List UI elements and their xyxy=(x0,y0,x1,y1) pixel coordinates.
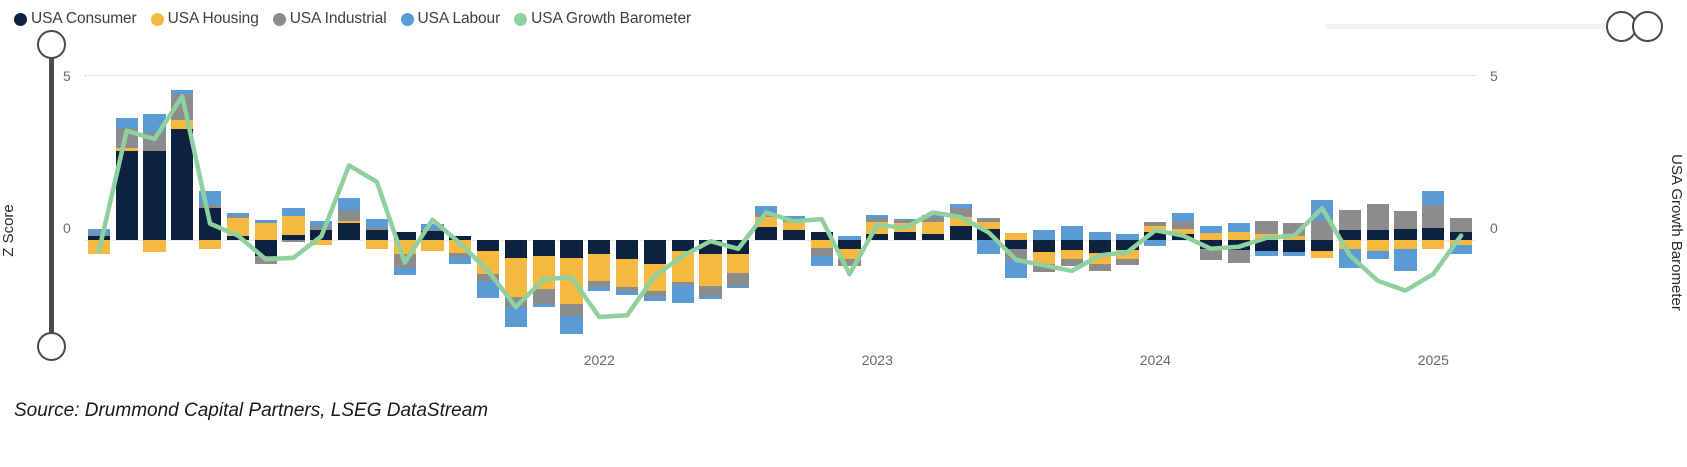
bar-segment xyxy=(394,240,416,255)
bar-segment xyxy=(282,216,304,234)
bar-segment xyxy=(282,240,304,243)
bar-segment xyxy=(922,234,944,240)
bar-group[interactable] xyxy=(1116,55,1138,345)
bar-segment xyxy=(1089,240,1111,254)
legend-item-label: USA Housing xyxy=(168,10,259,28)
bar-group[interactable] xyxy=(672,55,694,345)
bar-segment xyxy=(894,223,916,232)
legend-dot-icon xyxy=(151,13,164,26)
bar-segment xyxy=(1394,229,1416,240)
bar-segment xyxy=(171,129,193,239)
y-axis-tick-left-0: 0 xyxy=(63,220,71,236)
plot-area xyxy=(85,55,1475,345)
bar-group[interactable] xyxy=(1144,55,1166,345)
bar-segment xyxy=(199,191,221,205)
legend-dot-icon xyxy=(273,13,286,26)
bar-segment xyxy=(1255,234,1277,240)
bar-segment xyxy=(866,234,888,240)
bar-group[interactable] xyxy=(199,55,221,345)
bar-segment xyxy=(616,240,638,260)
bar-segment xyxy=(699,296,721,299)
bar-segment xyxy=(922,215,944,218)
y-axis-tick-right-0: 0 xyxy=(1490,220,1498,236)
bar-group[interactable] xyxy=(950,55,972,345)
bar-segment xyxy=(699,254,721,285)
legend-dot-icon xyxy=(14,13,27,26)
bar-segment xyxy=(227,218,249,236)
bar-segment xyxy=(950,226,972,240)
bar-segment xyxy=(533,289,555,304)
legend-item-label: USA Consumer xyxy=(31,10,137,28)
bar-segment xyxy=(1144,222,1166,226)
bar-group[interactable] xyxy=(1283,55,1305,345)
bar-segment xyxy=(310,226,332,230)
bar-segment xyxy=(1339,230,1361,239)
bar-group[interactable] xyxy=(505,55,527,345)
bar-segment xyxy=(922,217,944,222)
bar-group[interactable] xyxy=(616,55,638,345)
bar-segment xyxy=(560,240,582,258)
bar-segment xyxy=(560,316,582,334)
bar-segment xyxy=(116,151,138,240)
bar-segment xyxy=(310,221,332,226)
bar-segment xyxy=(533,256,555,289)
bar-segment xyxy=(255,220,277,223)
bar-segment xyxy=(366,228,388,230)
growth-barometer-chart-panel: USA ConsumerUSA HousingUSA IndustrialUSA… xyxy=(0,0,1687,467)
bar-segment xyxy=(1033,264,1055,272)
legend-item-label: USA Industrial xyxy=(290,10,387,28)
bar-segment xyxy=(227,213,249,216)
bar-segment xyxy=(1200,240,1222,249)
bar-segment xyxy=(199,208,221,239)
bar-group[interactable] xyxy=(88,55,110,345)
bar-group[interactable] xyxy=(588,55,610,345)
bar-segment xyxy=(1172,213,1194,221)
bar-segment xyxy=(560,304,582,317)
bar-segment xyxy=(1005,233,1027,240)
bar-segment xyxy=(1283,236,1305,240)
bar-segment xyxy=(1422,191,1444,205)
bar-segment xyxy=(616,291,638,294)
bar-segment xyxy=(977,229,999,240)
x-axis-year-label: 2022 xyxy=(584,352,615,368)
bar-segment xyxy=(1311,221,1333,239)
bar-segment xyxy=(755,217,777,227)
bar-segment xyxy=(171,90,193,94)
bar-segment xyxy=(1061,259,1083,266)
bar-group[interactable] xyxy=(1033,55,1055,345)
bar-segment xyxy=(783,222,805,230)
bar-segment xyxy=(1367,251,1389,259)
bar-group[interactable] xyxy=(644,55,666,345)
bar-segment xyxy=(533,304,555,307)
bar-segment xyxy=(727,254,749,272)
bar-segment xyxy=(1255,251,1277,256)
bar-segment xyxy=(1283,240,1305,253)
bar-segment xyxy=(477,240,499,252)
bar-segment xyxy=(1144,232,1166,239)
bar-segment xyxy=(505,240,527,258)
x-axis-year-label: 2024 xyxy=(1140,352,1171,368)
bar-group[interactable] xyxy=(838,55,860,345)
bar-segment xyxy=(755,214,777,217)
bar-segment xyxy=(394,254,416,267)
bar-group[interactable] xyxy=(449,55,471,345)
bar-segment xyxy=(783,219,805,222)
bar-segment xyxy=(1061,226,1083,239)
bar-segment xyxy=(699,286,721,296)
bar-segment xyxy=(1200,249,1222,261)
bar-segment xyxy=(477,281,499,297)
bar-segment xyxy=(143,240,165,253)
bar-segment xyxy=(1422,240,1444,249)
bar-segment xyxy=(1228,232,1250,239)
bar-segment xyxy=(866,222,888,234)
bar-group[interactable] xyxy=(1089,55,1111,345)
bar-group[interactable] xyxy=(1061,55,1083,345)
bar-group[interactable] xyxy=(1311,55,1333,345)
bar-segment xyxy=(1172,221,1194,228)
bar-segment xyxy=(1311,251,1333,258)
bar-segment xyxy=(783,230,805,239)
bar-segment xyxy=(1033,252,1055,264)
bar-group[interactable] xyxy=(811,55,833,345)
bar-segment xyxy=(227,236,249,239)
bar-segment xyxy=(727,240,749,255)
bar-group[interactable] xyxy=(143,55,165,345)
bar-group[interactable] xyxy=(1339,55,1361,345)
legend-item-label: USA Labour xyxy=(418,10,501,28)
bar-group[interactable] xyxy=(1450,55,1472,345)
bar-group[interactable] xyxy=(282,55,304,345)
bar-segment xyxy=(1422,205,1444,228)
bar-segment xyxy=(588,254,610,280)
bar-group[interactable] xyxy=(1394,55,1416,345)
bar-group[interactable] xyxy=(866,55,888,345)
vertical-slider-track[interactable] xyxy=(49,42,54,348)
y-axis-tick-left-5: 5 xyxy=(63,68,71,84)
bar-group[interactable] xyxy=(977,55,999,345)
bar-group[interactable] xyxy=(310,55,332,345)
bar-segment xyxy=(922,222,944,234)
bar-segment xyxy=(449,240,471,254)
bar-segment xyxy=(394,268,416,275)
bar-group[interactable] xyxy=(755,55,777,345)
bar-segment xyxy=(838,240,860,250)
x-axis-year-label: 2023 xyxy=(862,352,893,368)
y-axis-title-left: Z Score xyxy=(0,204,17,257)
bar-segment xyxy=(811,256,833,266)
bar-segment xyxy=(1339,210,1361,230)
bar-segment xyxy=(255,223,277,239)
bar-segment xyxy=(421,231,443,239)
bar-segment xyxy=(727,273,749,286)
bar-segment xyxy=(838,236,860,239)
bar-segment xyxy=(1200,226,1222,233)
bar-segment xyxy=(88,240,110,255)
bar-segment xyxy=(227,216,249,218)
bar-segment xyxy=(421,230,443,231)
bar-segment xyxy=(1394,240,1416,250)
horizontal-slider-handle-right[interactable] xyxy=(1632,11,1663,42)
bar-segment xyxy=(143,132,165,150)
horizontal-slider-track[interactable] xyxy=(1325,24,1635,29)
bar-segment xyxy=(338,210,360,222)
bar-segment xyxy=(366,219,388,228)
bar-segment xyxy=(1228,240,1250,251)
bar-group[interactable] xyxy=(783,55,805,345)
bar-segment xyxy=(644,264,666,290)
x-axis-year-label: 2025 xyxy=(1418,352,1449,368)
y-axis-tick-right-5: 5 xyxy=(1490,68,1498,84)
bar-group[interactable] xyxy=(699,55,721,345)
bar-segment xyxy=(672,240,694,252)
bar-segment xyxy=(1255,240,1277,252)
bar-segment xyxy=(1200,233,1222,240)
bar-segment xyxy=(894,220,916,223)
bar-segment xyxy=(838,249,860,259)
bar-group[interactable] xyxy=(338,55,360,345)
bar-segment xyxy=(1311,240,1333,252)
bar-segment xyxy=(1394,249,1416,270)
bar-segment xyxy=(1450,218,1472,232)
bar-segment xyxy=(88,229,110,234)
bar-segment xyxy=(116,128,138,148)
bar-segment xyxy=(533,240,555,256)
bar-segment xyxy=(1061,240,1083,251)
legend-dot-icon xyxy=(514,13,527,26)
bar-group[interactable] xyxy=(227,55,249,345)
bar-segment xyxy=(672,251,694,282)
bar-segment xyxy=(1450,245,1472,253)
bar-segment xyxy=(1422,228,1444,240)
bar-segment xyxy=(1061,250,1083,259)
bar-segment xyxy=(588,287,610,291)
bar-segment xyxy=(421,224,443,230)
bar-segment xyxy=(950,217,972,225)
bar-segment xyxy=(394,232,416,239)
bar-segment xyxy=(310,240,332,246)
bar-segment xyxy=(171,94,193,120)
bar-segment xyxy=(755,227,777,240)
bar-segment xyxy=(1367,240,1389,252)
bar-segment xyxy=(1033,240,1055,253)
bar-segment xyxy=(616,259,638,287)
bar-segment xyxy=(588,281,610,288)
bar-group[interactable] xyxy=(477,55,499,345)
bar-segment xyxy=(1450,232,1472,239)
y-axis-title-right: USA Growth Barometer xyxy=(1668,154,1685,311)
bar-segment xyxy=(977,218,999,221)
bar-segment xyxy=(672,285,694,303)
horizontal-range-slider[interactable] xyxy=(1325,8,1675,48)
bar-segment xyxy=(1116,250,1138,259)
bar-segment xyxy=(560,258,582,304)
legend-item-usa-housing[interactable]: USA Housing xyxy=(151,10,259,28)
bar-segment xyxy=(505,258,527,298)
legend-item-usa-labour[interactable]: USA Labour xyxy=(401,10,501,28)
bar-group[interactable] xyxy=(922,55,944,345)
bar-segment xyxy=(143,114,165,132)
bar-segment xyxy=(838,259,860,266)
bar-segment xyxy=(950,204,972,208)
bar-segment xyxy=(477,251,499,274)
bar-segment xyxy=(699,240,721,255)
bar-segment xyxy=(811,240,833,248)
bar-segment xyxy=(1116,240,1138,251)
bar-segment xyxy=(1089,253,1111,264)
vertical-slider-handle-bottom[interactable] xyxy=(37,332,66,361)
bar-group[interactable] xyxy=(1255,55,1277,345)
legend-item-label: USA Growth Barometer xyxy=(531,10,691,28)
bar-segment xyxy=(950,208,972,217)
bar-segment xyxy=(1394,211,1416,229)
bar-segment xyxy=(1367,204,1389,230)
bar-segment xyxy=(255,256,277,264)
bar-segment xyxy=(644,297,666,302)
bar-segment xyxy=(866,218,888,222)
bar-group[interactable] xyxy=(1367,55,1389,345)
bar-segment xyxy=(1228,223,1250,232)
bar-group[interactable] xyxy=(394,55,416,345)
bar-segment xyxy=(866,215,888,218)
source-note: Source: Drummond Capital Partners, LSEG … xyxy=(14,400,488,422)
bar-group[interactable] xyxy=(366,55,388,345)
bar-segment xyxy=(1339,240,1361,250)
bar-group[interactable] xyxy=(894,55,916,345)
bar-segment xyxy=(255,240,277,256)
bar-group[interactable] xyxy=(560,55,582,345)
bar-segment xyxy=(366,240,388,250)
bar-group[interactable] xyxy=(1422,55,1444,345)
legend-item-usa-industrial[interactable]: USA Industrial xyxy=(273,10,387,28)
bar-segment xyxy=(116,148,138,151)
chart-legend: USA ConsumerUSA HousingUSA IndustrialUSA… xyxy=(14,8,691,30)
bar-segment xyxy=(1283,223,1305,236)
bar-group[interactable] xyxy=(727,55,749,345)
bar-segment xyxy=(366,230,388,240)
legend-item-usa-growth-barometer[interactable]: USA Growth Barometer xyxy=(514,10,691,28)
bar-segment xyxy=(338,198,360,210)
bar-segment xyxy=(894,232,916,239)
bar-segment xyxy=(1116,259,1138,265)
bar-segment xyxy=(282,208,304,216)
bar-segment xyxy=(1089,232,1111,239)
bar-segment xyxy=(338,223,360,239)
bar-segment xyxy=(755,206,777,214)
bar-group[interactable] xyxy=(421,55,443,345)
bar-group[interactable] xyxy=(533,55,555,345)
bar-segment xyxy=(449,257,471,264)
bar-group[interactable] xyxy=(1005,55,1027,345)
bar-segment xyxy=(338,221,360,223)
bar-segment xyxy=(1005,260,1027,278)
bar-segment xyxy=(1005,240,1027,249)
bar-segment xyxy=(421,240,443,252)
bar-segment xyxy=(116,118,138,129)
bar-group[interactable] xyxy=(255,55,277,345)
bar-segment xyxy=(644,240,666,265)
bar-segment xyxy=(310,230,332,240)
bar-segment xyxy=(811,248,833,256)
bar-segment xyxy=(1089,264,1111,271)
bar-segment xyxy=(1311,200,1333,221)
bar-group[interactable] xyxy=(1172,55,1194,345)
bar-segment xyxy=(894,219,916,221)
bar-segment xyxy=(199,240,221,250)
bar-segment xyxy=(1005,249,1027,261)
bar-segment xyxy=(783,216,805,219)
bar-segment xyxy=(1172,229,1194,234)
bar-segment xyxy=(1283,252,1305,256)
bar-segment xyxy=(1144,226,1166,232)
bar-segment xyxy=(1033,230,1055,240)
bar-group[interactable] xyxy=(116,55,138,345)
bar-segment xyxy=(171,120,193,129)
bar-segment xyxy=(811,232,833,239)
bar-segment xyxy=(505,307,527,327)
bar-segment xyxy=(1228,250,1250,263)
bar-segment xyxy=(1367,230,1389,240)
bar-segment xyxy=(588,240,610,255)
legend-dot-icon xyxy=(401,13,414,26)
bar-segment xyxy=(477,274,499,281)
bar-segment xyxy=(977,222,999,229)
vertical-slider-handle-top[interactable] xyxy=(37,30,66,59)
bar-segment xyxy=(1144,240,1166,247)
bar-segment xyxy=(88,234,110,236)
bar-group[interactable] xyxy=(1228,55,1250,345)
bar-group[interactable] xyxy=(1200,55,1222,345)
bar-segment xyxy=(143,151,165,240)
bar-segment xyxy=(1116,234,1138,240)
bar-segment xyxy=(977,240,999,255)
legend-item-usa-consumer[interactable]: USA Consumer xyxy=(14,10,137,28)
bar-group[interactable] xyxy=(171,55,193,345)
bar-segment xyxy=(1339,249,1361,267)
bar-segment xyxy=(1255,221,1277,234)
bar-segment xyxy=(199,205,221,208)
bar-segment xyxy=(505,297,527,307)
bar-segment xyxy=(1172,234,1194,240)
bar-segment xyxy=(727,286,749,289)
